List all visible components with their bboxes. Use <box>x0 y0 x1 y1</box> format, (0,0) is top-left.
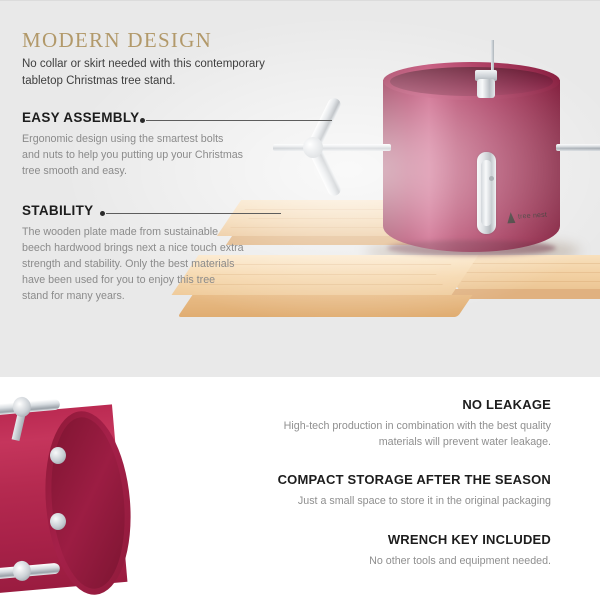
feature-compact-storage-title: COMPACT STORAGE AFTER THE SEASON <box>251 472 551 487</box>
feature-wrench-key-title: WRENCH KEY INCLUDED <box>251 532 551 547</box>
top-panel: tree nest MODERN DESIGN No collar or ski… <box>0 0 600 377</box>
wing-bolt-handle <box>297 93 331 201</box>
feature-compact-storage: COMPACT STORAGE AFTER THE SEASON Just a … <box>251 472 551 510</box>
feature-easy-assembly: EASY ASSEMBLY Ergonomic design using the… <box>22 110 244 190</box>
inner-bolt-lower <box>50 513 66 530</box>
panel-top-border <box>0 0 600 1</box>
feature-stability-body: The wooden plate made from sustainable b… <box>22 224 244 304</box>
latch-screw <box>489 176 494 181</box>
inner-bolt-upper <box>50 447 66 464</box>
cylinder-base-shadow <box>387 240 556 256</box>
feature-no-leakage-body: High-tech production in combination with… <box>251 419 551 450</box>
feature-stability-title: STABILITY <box>22 203 244 218</box>
wing-bolt-bottom-hub <box>12 560 32 581</box>
product-photo-top: tree nest <box>215 40 600 377</box>
threaded-rod-right <box>556 144 600 151</box>
cylinder-latch <box>477 152 496 234</box>
product-infographic: tree nest MODERN DESIGN No collar or ski… <box>0 0 600 600</box>
page-title: MODERN DESIGN <box>22 28 212 53</box>
feature-wrench-key-body: No other tools and equipment needed. <box>251 554 551 570</box>
interior-bolt-body <box>477 79 495 98</box>
product-photo-bottom <box>0 383 173 600</box>
brand-name: tree nest <box>518 212 547 221</box>
tree-stand-cylinder <box>383 62 560 252</box>
feature-no-leakage-title: NO LEAKAGE <box>251 397 551 412</box>
bottom-feature-list: NO LEAKAGE High-tech production in combi… <box>251 397 551 580</box>
cylinder-body <box>383 80 560 252</box>
tree-mark-icon <box>507 212 516 224</box>
bottom-panel: NO LEAKAGE High-tech production in combi… <box>0 377 600 600</box>
latch-pin <box>481 160 492 226</box>
interior-bolt <box>473 70 499 98</box>
feature-easy-assembly-title: EASY ASSEMBLY <box>22 110 244 125</box>
feature-wrench-key: WRENCH KEY INCLUDED No other tools and e… <box>251 532 551 570</box>
threaded-rod-left <box>273 144 391 151</box>
wing-bolt-top-hub <box>12 396 32 417</box>
vertical-rod <box>491 40 494 70</box>
feature-stability: STABILITY The wooden plate made from sus… <box>22 203 244 315</box>
feature-no-leakage: NO LEAKAGE High-tech production in combi… <box>251 397 551 450</box>
intro-text: No collar or skirt needed with this cont… <box>22 56 272 89</box>
feature-easy-assembly-body: Ergonomic design using the smartest bolt… <box>22 131 244 179</box>
wing-hub <box>303 137 323 158</box>
cylinder-interior <box>390 67 553 96</box>
feature-compact-storage-body: Just a small space to store it in the or… <box>251 494 551 510</box>
